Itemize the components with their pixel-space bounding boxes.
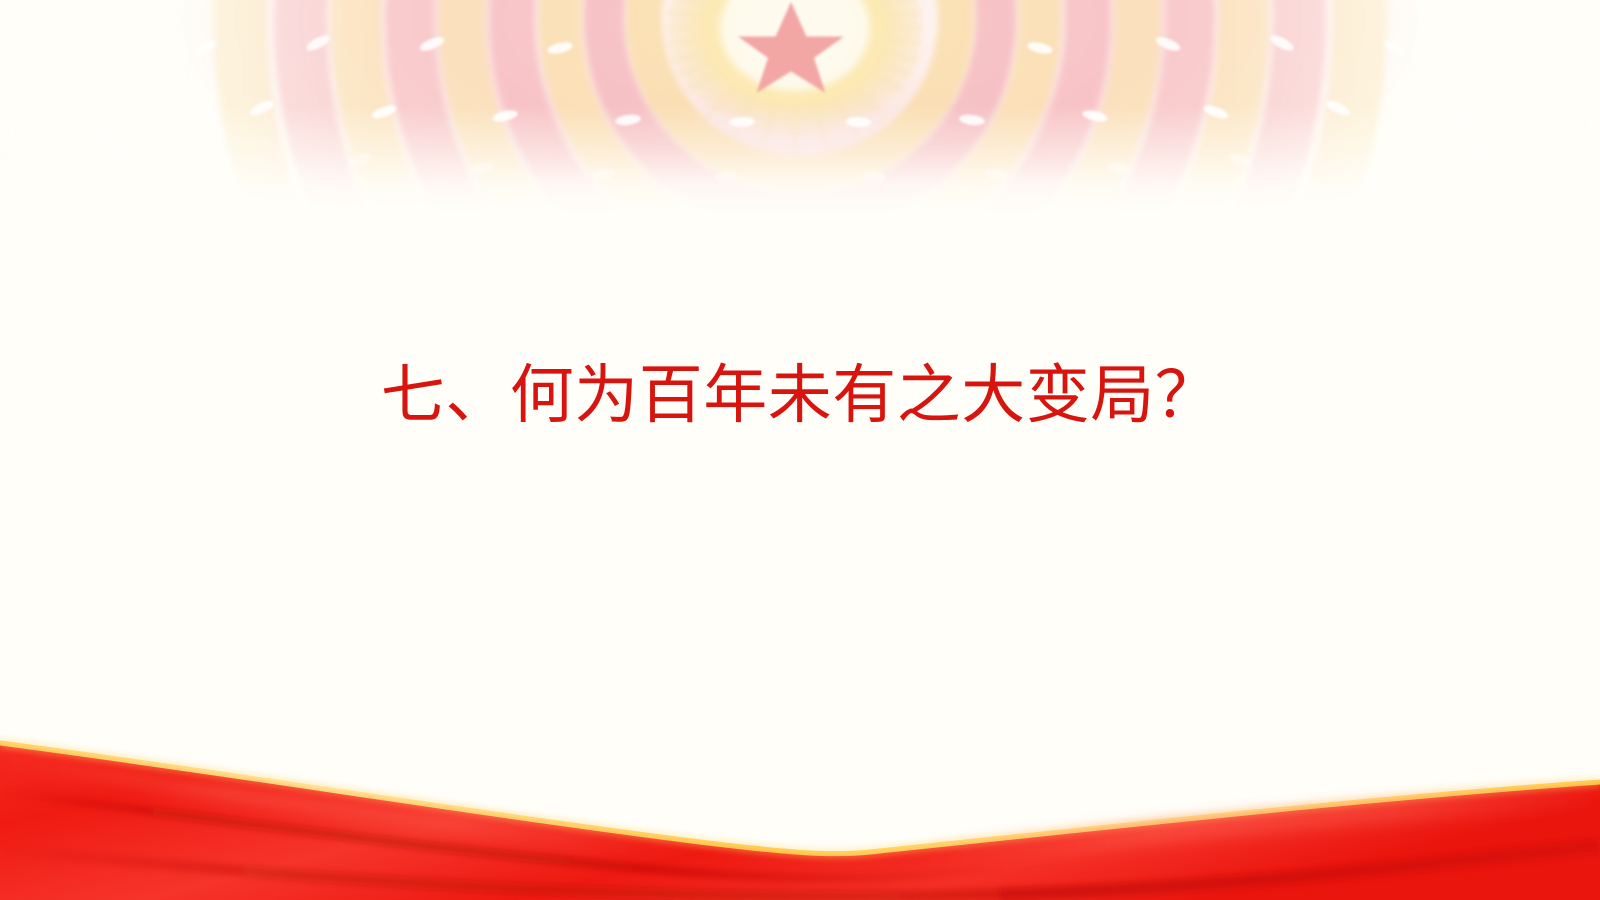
emblem-scalloped-rings bbox=[240, 0, 1360, 230]
emblem-center-glow bbox=[667, 0, 923, 136]
top-emblem-svg bbox=[0, 0, 1600, 230]
decoration-bottom-fade bbox=[0, 0, 1600, 230]
bottom-red-ribbon bbox=[0, 700, 1600, 900]
slide-canvas: 七、何为百年未有之大变局？ bbox=[0, 0, 1600, 900]
emblem-light-dots bbox=[27, 32, 1573, 182]
slide-title: 七、何为百年未有之大变局？ bbox=[381, 361, 1220, 433]
emblem-sunburst-rays bbox=[667, 0, 923, 156]
five-pointed-star-icon bbox=[738, 2, 844, 93]
title-block: 七、何为百年未有之大变局？ bbox=[0, 318, 1600, 475]
ribbon-svg bbox=[0, 700, 1600, 900]
emblem-pink-haze bbox=[180, 0, 1420, 230]
decoration-side-fade bbox=[0, 0, 1600, 230]
top-emblem-decoration bbox=[0, 0, 1600, 230]
